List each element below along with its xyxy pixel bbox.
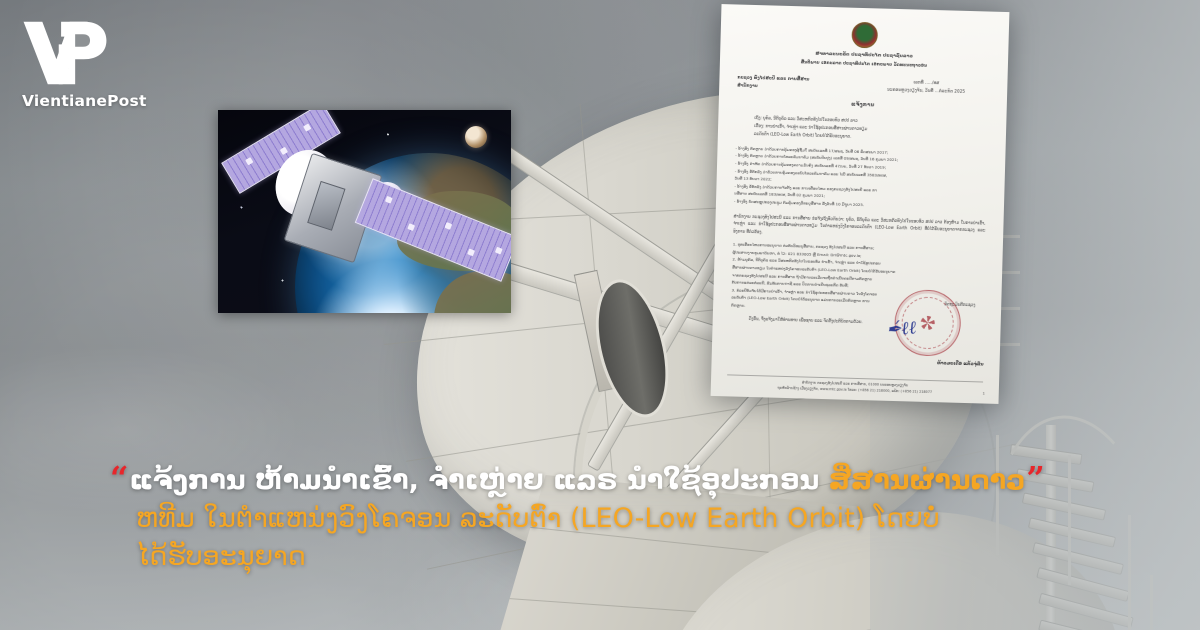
vp-monogram-icon (22, 20, 108, 86)
quote-close-icon: ” (1026, 459, 1044, 497)
caption-line-2: ຫທີມ ໃນຕຳແຫນ່ງວົງໂຄຈອນ ລະດັບຕົ່າ (LEO-Lo… (110, 500, 1120, 538)
caption-block: “ແຈ້ງການ ຫ້າມນຳເຂົ້າ, ຈຳເຫຼ່າຍ ແລຣ ນຳໃຊ້… (110, 462, 1120, 576)
lao-national-emblem-icon (851, 22, 878, 49)
caption-line-1-white: ແຈ້ງການ ຫ້າມນຳເຂົ້າ, ຈຳເຫຼ່າຍ ແລຣ ນຳໃຊ້ອ… (129, 465, 819, 496)
doc-references-list: - ອ້າງອິງ ກົດຫຼາຍ ວ່າດ້ວຍການຄຸ້ມຄອງຜູ້ຊົ… (734, 144, 988, 212)
doc-page-number: ໏ 1 (981, 391, 984, 395)
caption-line-1: “ແຈ້ງການ ຫ້າມນຳເຂົ້າ, ຈຳເຫຼ່າຍ ແລຣ ນຳໃຊ້… (110, 462, 1120, 500)
caption-line-1-orange: ສື່ສານຜ່ານດາວ (829, 465, 1026, 496)
caption-line-3: ໄດ້ຮັບອະນຸຍາດ (110, 538, 1120, 576)
doc-footer: ສຳນັກງານ ກະຊວງທັງໄປສະນີ ແລະ ການສື່ສານ, 0… (727, 375, 983, 398)
article-cover-image: ສາທາລະນະລັດ ປະຊາທິປະໄຕ ປະຊາຊົນລາວ ສັນຕິພ… (0, 0, 1200, 630)
quote-open-icon: “ (110, 459, 128, 497)
official-notice-document: ສາທາລະນະລັດ ປະຊາທິປະໄຕ ປະຊາຊົນລາວ ສັນຕິພ… (711, 4, 1010, 404)
satellite-in-orbit-photo (218, 110, 511, 313)
brand-name: VientianePost (22, 92, 202, 110)
doc-signer-name: ທ້າວມະເດືອ ແກ້ວຈຸ່ລິນ (937, 361, 984, 367)
doc-title: ແຈ້ງການ (737, 98, 989, 114)
moon-icon (465, 126, 487, 148)
brand-logo[interactable]: VientianePost (22, 20, 202, 110)
doc-body-paragraph: ສຳນັກງານ ກະຊວງທັງໄປສະນີ ແລະ ການສື່ສານ ຂໍ… (733, 212, 986, 242)
